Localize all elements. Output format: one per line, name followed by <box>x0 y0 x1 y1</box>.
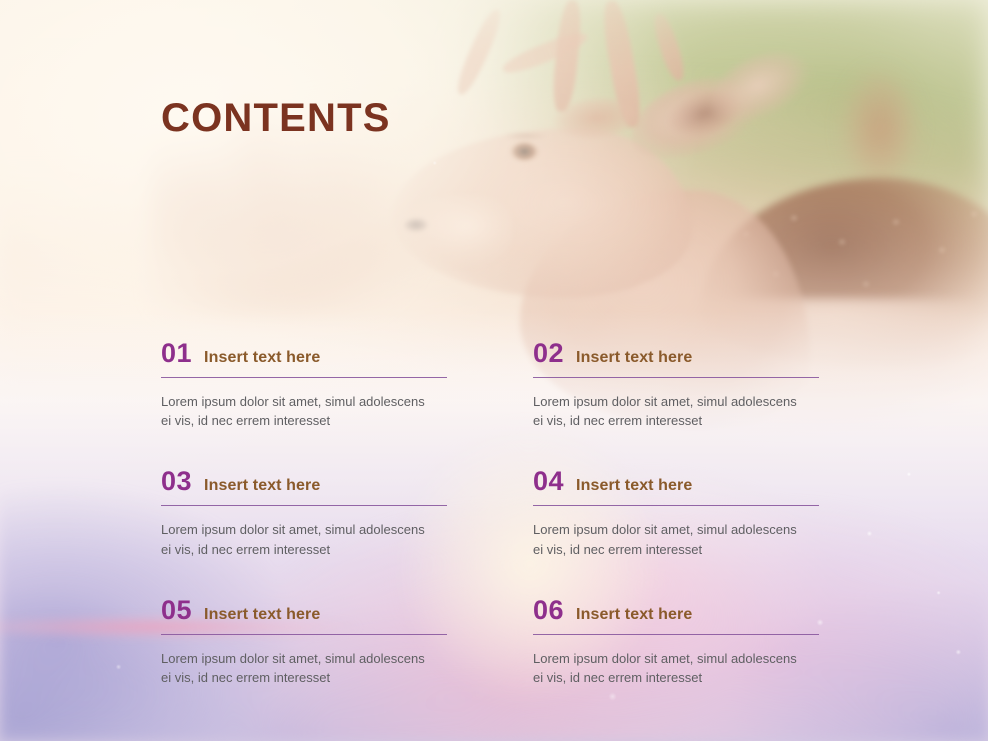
item-number: 03 <box>161 468 192 495</box>
contents-item-01[interactable]: 01 Insert text here Lorem ipsum dolor si… <box>161 340 447 430</box>
item-body-text: Lorem ipsum dolor sit amet, simul adoles… <box>533 392 809 430</box>
contents-item-header: 06 Insert text here <box>533 597 819 628</box>
item-heading: Insert text here <box>576 607 692 623</box>
contents-item-header: 03 Insert text here <box>161 468 447 499</box>
item-body-text: Lorem ipsum dolor sit amet, simul adoles… <box>533 520 809 558</box>
page-title: CONTENTS <box>161 96 391 141</box>
item-divider <box>161 634 447 635</box>
contents-item-04[interactable]: 04 Insert text here Lorem ipsum dolor si… <box>533 468 819 558</box>
item-number: 05 <box>161 597 192 624</box>
slide-content: CONTENTS 01 Insert text here Lorem ipsum… <box>0 0 988 741</box>
contents-item-03[interactable]: 03 Insert text here Lorem ipsum dolor si… <box>161 468 447 558</box>
item-body-text: Lorem ipsum dolor sit amet, simul adoles… <box>533 649 809 687</box>
contents-item-02[interactable]: 02 Insert text here Lorem ipsum dolor si… <box>533 340 819 430</box>
item-number: 04 <box>533 468 564 495</box>
item-divider <box>533 634 819 635</box>
item-body-text: Lorem ipsum dolor sit amet, simul adoles… <box>161 392 437 430</box>
item-body-text: Lorem ipsum dolor sit amet, simul adoles… <box>161 520 437 558</box>
contents-item-header: 05 Insert text here <box>161 597 447 628</box>
item-number: 01 <box>161 340 192 367</box>
contents-item-06[interactable]: 06 Insert text here Lorem ipsum dolor si… <box>533 597 819 687</box>
contents-item-header: 02 Insert text here <box>533 340 819 371</box>
item-heading: Insert text here <box>204 350 320 366</box>
item-divider <box>161 505 447 506</box>
contents-item-05[interactable]: 05 Insert text here Lorem ipsum dolor si… <box>161 597 447 687</box>
item-body-text: Lorem ipsum dolor sit amet, simul adoles… <box>161 649 437 687</box>
item-divider <box>533 505 819 506</box>
contents-list: 01 Insert text here Lorem ipsum dolor si… <box>161 340 821 687</box>
contents-item-header: 01 Insert text here <box>161 340 447 371</box>
contents-item-header: 04 Insert text here <box>533 468 819 499</box>
item-divider <box>161 377 447 378</box>
contents-slide: CONTENTS 01 Insert text here Lorem ipsum… <box>0 0 988 741</box>
item-number: 02 <box>533 340 564 367</box>
item-divider <box>533 377 819 378</box>
item-heading: Insert text here <box>576 350 692 366</box>
item-heading: Insert text here <box>204 478 320 494</box>
item-heading: Insert text here <box>204 607 320 623</box>
item-number: 06 <box>533 597 564 624</box>
item-heading: Insert text here <box>576 478 692 494</box>
